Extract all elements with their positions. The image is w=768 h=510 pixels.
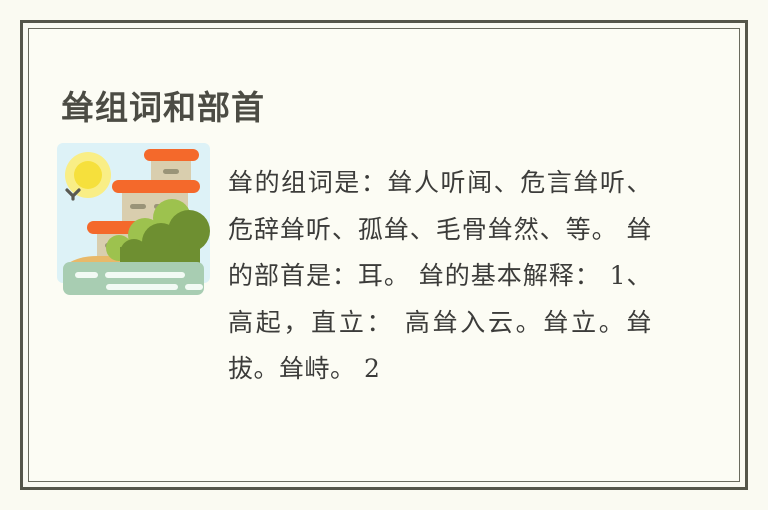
wave-line-2b <box>185 284 203 290</box>
article-body-text: 耸的组词是：耸人听闻、危言耸听、危辞耸听、孤耸、毛骨耸然、等。 耸的部首是：耳。… <box>228 160 652 393</box>
wave-line-1a <box>75 272 98 278</box>
wave-line-2a <box>106 284 178 290</box>
pagoda-landscape-illustration <box>57 143 210 299</box>
pagoda-roof-top <box>144 149 199 161</box>
pagoda-window-top <box>163 169 179 174</box>
pagoda-roof-middle <box>112 180 200 193</box>
page-root: 耸组词和部首 <box>0 0 768 510</box>
page-title: 耸组词和部首 <box>61 86 265 130</box>
pagoda-window-middle-left <box>130 204 146 209</box>
sun-core-icon <box>74 161 102 189</box>
wave-line-1b <box>105 272 185 278</box>
water-rect <box>63 262 204 295</box>
